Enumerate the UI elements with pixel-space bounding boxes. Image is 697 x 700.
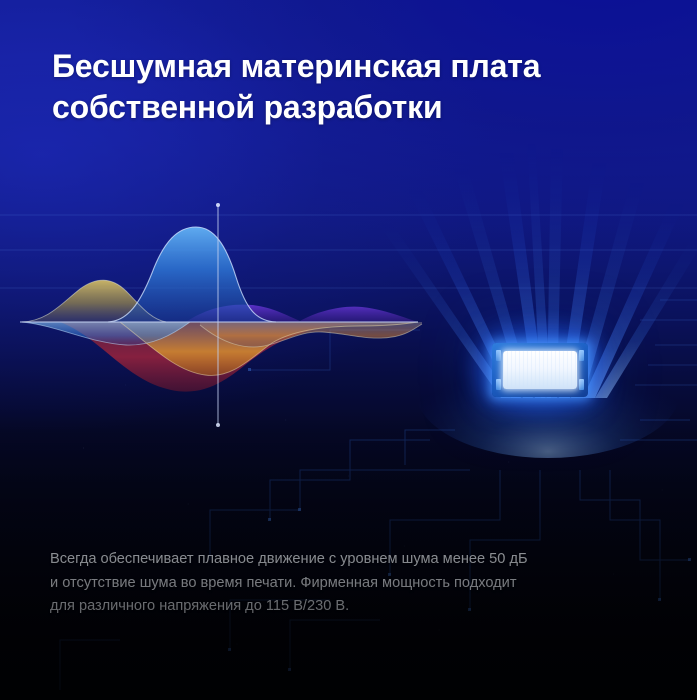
bottom-vignette <box>0 0 697 700</box>
promo-poster: Бесшумная материнская плата собственной … <box>0 0 697 700</box>
